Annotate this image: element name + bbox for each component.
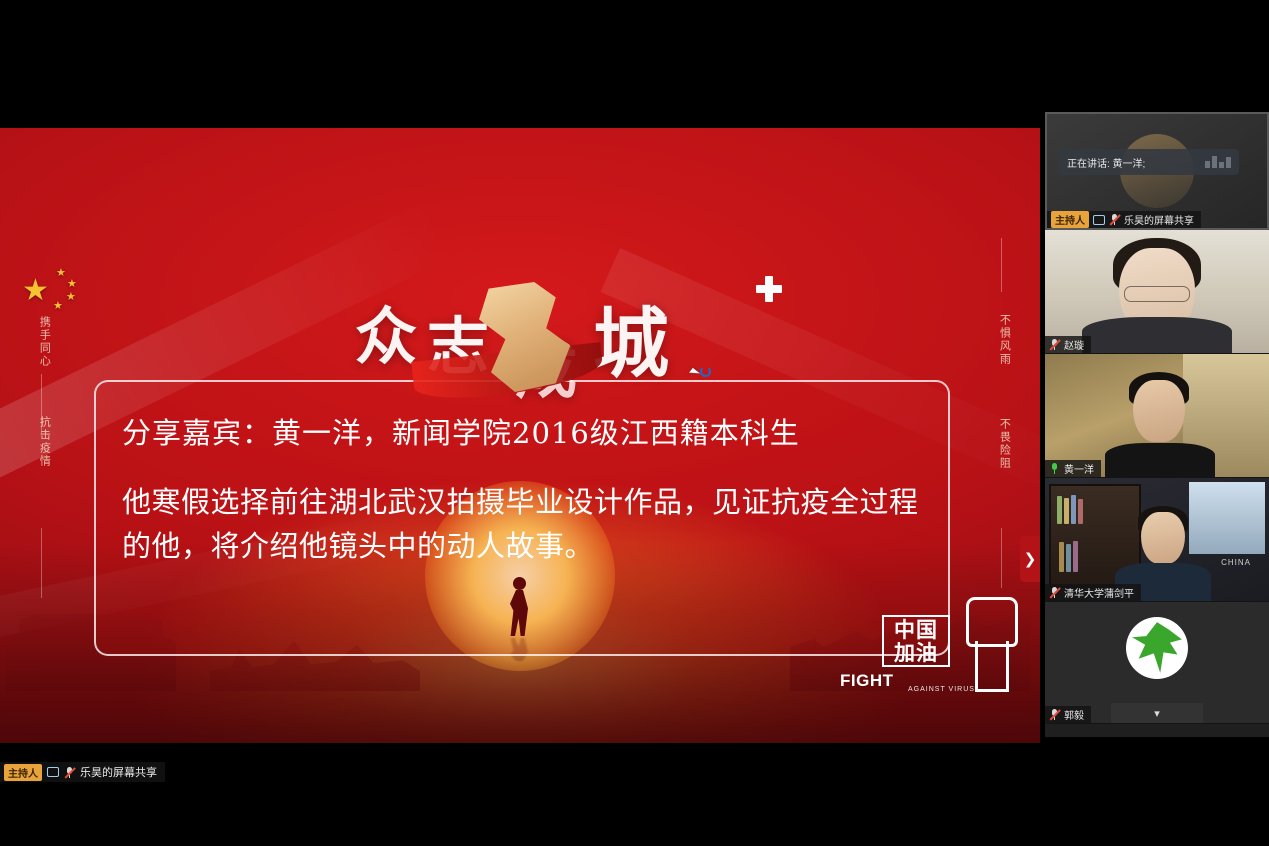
calligraphy-char-4: 城 <box>593 282 669 392</box>
slide-collapse-chevron-right-icon[interactable]: ❯ <box>1020 536 1040 582</box>
shared-screen-area[interactable]: ★ ★ ★ ★ ★ 携手同心 抗击疫情 不惧风雨 不畏险阻 众 志 成 <box>0 128 1040 743</box>
eyeglasses <box>1124 286 1190 302</box>
calligraphy-char-1: 众 <box>355 286 417 376</box>
slide-right-text-top: 不惧风雨 <box>994 314 1014 366</box>
busy-spinner-icon <box>700 366 711 377</box>
person-body <box>1082 317 1232 353</box>
screen-share-status-bar: 主持人 乐昊的屏幕共享 <box>0 762 165 782</box>
divider-line <box>1001 528 1002 588</box>
tile-name-tag: 黄一洋 <box>1045 460 1101 477</box>
logo-fight-text: FIGHT <box>840 671 894 691</box>
tile-name-label: 黄一洋 <box>1064 461 1094 476</box>
screen-share-icon <box>47 767 59 777</box>
screenshot-root: ★ ★ ★ ★ ★ 携手同心 抗击疫情 不惧风雨 不畏险阻 众 志 成 <box>0 0 1269 846</box>
logo-cn-line1: 中国 <box>884 619 948 642</box>
china-text-decal: CHINA <box>1221 558 1251 567</box>
tile-name-label: 清华大学蒲剑平 <box>1064 585 1134 600</box>
mic-muted-icon <box>1109 214 1120 225</box>
host-badge: 主持人 <box>4 764 42 781</box>
tile-name-label: 乐昊的屏幕共享 <box>1124 212 1194 227</box>
person-body <box>1105 443 1215 477</box>
audio-wave-icon <box>1205 156 1231 168</box>
slide-text-panel: 分享嘉宾：黄一洋，新闻学院2016级江西籍本科生 他寒假选择前往湖北武汉拍摄毕业… <box>94 380 950 656</box>
slide-right-text-bottom: 不畏险阻 <box>994 418 1014 470</box>
china-jiayou-text: 中国 加油 <box>882 615 950 667</box>
mic-muted-icon <box>1049 709 1060 720</box>
mic-on-icon <box>1049 463 1060 474</box>
speaking-label: 正在讲话: 黄一洋; <box>1067 155 1145 170</box>
share-bar-label: 乐昊的屏幕共享 <box>80 764 157 780</box>
tile-participant[interactable]: 黄一洋 <box>1045 354 1269 478</box>
medical-cross-icon <box>756 276 782 302</box>
mic-muted-icon <box>64 767 75 778</box>
tile-participant[interactable]: 赵璇 <box>1045 230 1269 354</box>
guest-intro-line: 分享嘉宾：黄一洋，新闻学院2016级江西籍本科生 <box>122 410 922 452</box>
logo-against-virus-text: AGAINST VIRUS <box>908 686 975 693</box>
divider-line <box>41 528 42 598</box>
tile-video-feed: CHINA <box>1045 478 1269 601</box>
mic-muted-icon <box>1049 339 1060 350</box>
person-face <box>1133 380 1185 442</box>
tile-participant[interactable]: CHINA 清华大学蒲剑平 <box>1045 478 1269 602</box>
screen-share-icon <box>1093 215 1105 225</box>
participant-rail[interactable]: 正在讲话: 黄一洋; 主持人 乐昊的屏幕共享 赵璇 <box>1045 112 1269 737</box>
tile-active-speaker[interactable]: 正在讲话: 黄一洋; 主持人 乐昊的屏幕共享 <box>1045 112 1269 230</box>
tile-name-tag: 清华大学蒲剑平 <box>1045 584 1141 601</box>
fight-against-virus-logo: 中国 加油 FIGHT AGAINST VIRUS <box>882 597 1012 695</box>
tile-video-feed <box>1045 230 1269 353</box>
logo-cn-line2: 加油 <box>884 642 948 665</box>
tile-video-feed <box>1045 354 1269 477</box>
tile-name-tag: 赵璇 <box>1045 336 1091 353</box>
tile-participant[interactable]: 郭毅 ▾ <box>1045 602 1269 724</box>
host-badge: 主持人 <box>1051 211 1089 228</box>
divider-line <box>1001 238 1002 292</box>
china-flag-stars-icon: ★ ★ ★ ★ ★ <box>22 268 84 314</box>
presentation-slide: ★ ★ ★ ★ ★ 携手同心 抗击疫情 不惧风雨 不畏险阻 众 志 成 <box>0 128 1040 743</box>
tile-name-label: 郭毅 <box>1064 707 1084 722</box>
slide-body-text: 他寒假选择前往湖北武汉拍摄毕业设计作品，见证抗疫全过程的他，将介绍他镜头中的动人… <box>122 480 922 568</box>
mic-muted-icon <box>1049 587 1060 598</box>
avatar <box>1126 617 1188 679</box>
raised-fist-icon <box>966 597 1012 689</box>
slide-left-text-top: 携手同心 <box>34 316 54 368</box>
tile-name-tag: 主持人 乐昊的屏幕共享 <box>1047 211 1201 228</box>
tile-name-tag: 郭毅 <box>1045 706 1091 723</box>
tile-name-label: 赵璇 <box>1064 337 1084 352</box>
slide-left-text-bottom: 抗击疫情 <box>34 416 54 468</box>
speaking-indicator: 正在讲话: 黄一洋; <box>1059 149 1239 175</box>
window <box>1189 482 1265 554</box>
person-face <box>1141 512 1185 564</box>
rail-collapse-chevron-down-icon[interactable]: ▾ <box>1111 703 1203 723</box>
